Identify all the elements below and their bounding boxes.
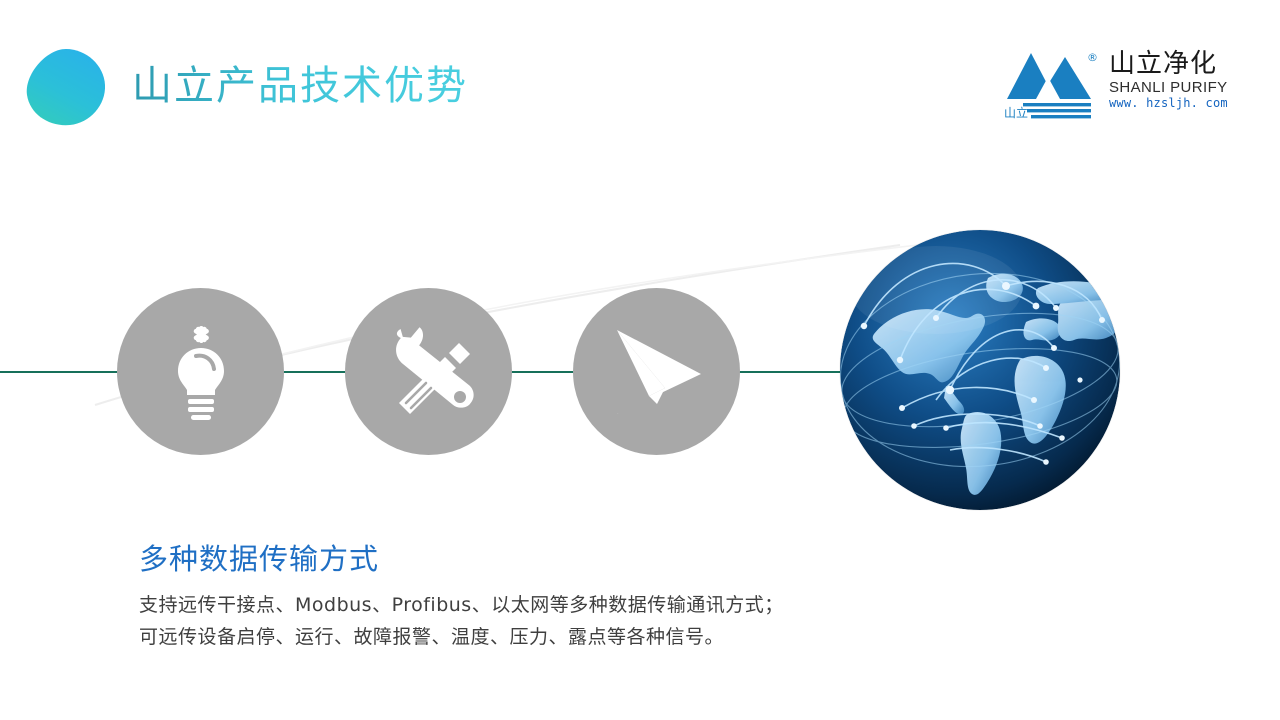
body-line: 支持远传干接点、Modbus、Profibus、以太网等多种数据传输通讯方式； [139, 589, 899, 621]
network-globe-icon [840, 230, 1120, 510]
logo-wordmark: 山立净化 SHANLI PURIFY www. hzsljh. com [1109, 49, 1235, 111]
body-copy: 支持远传干接点、Modbus、Profibus、以太网等多种数据传输通讯方式； … [139, 589, 899, 653]
body-line: 可远传设备启停、运行、故障报警、温度、压力、露点等各种信号。 [139, 621, 899, 653]
diagram-node-lightbulb[interactable] [117, 288, 284, 455]
logo-company-name-en: SHANLI PURIFY [1109, 79, 1235, 96]
company-logo: 山立 ® 山立净化 SHANLI PURIFY www. hzsljh. com [1003, 47, 1233, 125]
section-heading: 多种数据传输方式 [139, 539, 379, 579]
header-blob-decoration [24, 47, 108, 127]
lightbulb-icon [155, 324, 247, 420]
logo-mountain-icon: 山立 ® [1003, 47, 1103, 121]
svg-text:山立: 山立 [1004, 105, 1028, 120]
tools-icon [382, 325, 476, 419]
svg-text:®: ® [1087, 51, 1098, 64]
logo-website-url: www. hzsljh. com [1109, 96, 1235, 111]
process-diagram [0, 190, 1280, 520]
diagram-node-send[interactable] [573, 288, 740, 455]
page-title: 山立产品技术优势 [132, 57, 468, 115]
logo-company-name-cn: 山立净化 [1109, 49, 1235, 79]
slide-canvas: 山立产品技术优势 山立 ® 山立净化 SHANLI PURIFY www. hz… [0, 0, 1280, 720]
diagram-node-tools[interactable] [345, 288, 512, 455]
paper-plane-icon [609, 326, 705, 418]
